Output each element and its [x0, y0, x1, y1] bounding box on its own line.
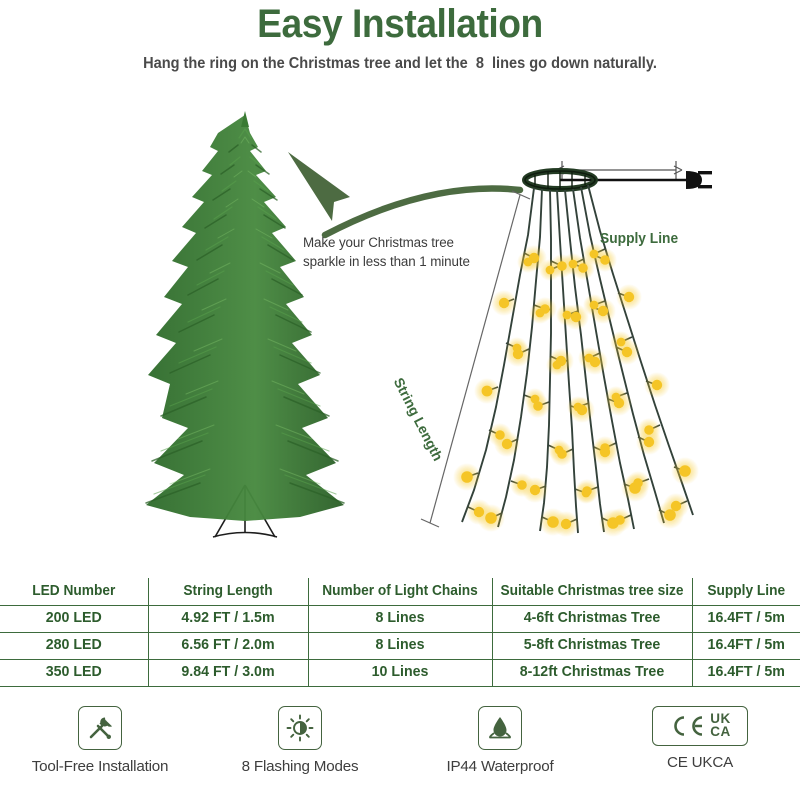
- cell-light-chains: 8 Lines: [312, 632, 489, 659]
- cell-string-length: 9.84 FT / 3.0m: [151, 659, 305, 686]
- feature-label: CE UKCA: [667, 754, 733, 771]
- cell-led-number: 280 LED: [3, 632, 145, 659]
- ukca-mark: UK CA: [710, 713, 731, 738]
- cell-light-chains: 8 Lines: [312, 605, 489, 632]
- table-row: 350 LED 9.84 FT / 3.0m 10 Lines 8-12ft C…: [0, 659, 800, 686]
- cell-tree-size: 4-6ft Christmas Tree: [496, 605, 688, 632]
- table-header-row: LED Number String Length Number of Light…: [0, 578, 800, 605]
- feature-waterproof: IP44 Waterproof: [400, 697, 600, 800]
- feature-label: IP44 Waterproof: [446, 758, 553, 775]
- feature-flashing-modes: 8 Flashing Modes: [200, 697, 400, 800]
- cell-supply-line: 16.4FT / 5m: [694, 605, 798, 632]
- cell-supply-line: 16.4FT / 5m: [694, 659, 798, 686]
- hanging-ring: [525, 171, 595, 189]
- cell-string-length: 4.92 FT / 1.5m: [151, 605, 305, 632]
- feature-tool-free-installation: Tool-Free Installation: [0, 697, 200, 800]
- feature-certifications: UK CA CE UKCA: [600, 697, 800, 800]
- cell-supply-line: 16.4FT / 5m: [694, 632, 798, 659]
- ce-ukca-icon: UK CA: [652, 706, 748, 746]
- installation-callout: Make your Christmas tree sparkle in less…: [303, 233, 470, 271]
- supply-line-label: Supply Line: [600, 231, 678, 247]
- cell-light-chains: 10 Lines: [312, 659, 489, 686]
- plug-icon: [686, 171, 712, 189]
- ukca-ca-text: CA: [710, 726, 731, 739]
- column-header-led-number: LED Number: [3, 578, 145, 605]
- illustration-area: Make your Christmas tree sparkle in less…: [0, 85, 800, 575]
- feature-badges-row: Tool-Free Installation 8 Flashing Modes: [0, 697, 800, 800]
- product-infographic: Easy Installation Hang the ring on the C…: [0, 0, 800, 800]
- callout-line-1: Make your Christmas tree: [303, 233, 470, 252]
- led-light-curtain-illustration: [421, 161, 712, 537]
- page-title: Easy Installation: [28, 2, 772, 47]
- brightness-icon: [278, 706, 322, 750]
- feature-label: Tool-Free Installation: [32, 758, 169, 775]
- cell-led-number: 200 LED: [3, 605, 145, 632]
- tools-icon: [78, 706, 122, 750]
- column-header-light-chains: Number of Light Chains: [312, 578, 489, 605]
- page-subtitle: Hang the ring on the Christmas tree and …: [24, 55, 776, 73]
- column-header-string-length: String Length: [151, 578, 305, 605]
- cell-tree-size: 8-12ft Christmas Tree: [496, 659, 688, 686]
- callout-line-2: sparkle in less than 1 minute: [303, 252, 470, 271]
- specifications-table: LED Number String Length Number of Light…: [0, 578, 800, 687]
- cell-string-length: 6.56 FT / 2.0m: [151, 632, 305, 659]
- column-header-supply-line: Supply Line: [694, 578, 798, 605]
- table-row: 280 LED 6.56 FT / 2.0m 8 Lines 5-8ft Chr…: [0, 632, 800, 659]
- water-drop-icon: [478, 706, 522, 750]
- curved-arrow-icon: [288, 152, 520, 235]
- table-row: 200 LED 4.92 FT / 1.5m 8 Lines 4-6ft Chr…: [0, 605, 800, 632]
- cell-tree-size: 5-8ft Christmas Tree: [496, 632, 688, 659]
- feature-label: 8 Flashing Modes: [242, 758, 359, 775]
- column-header-tree-size: Suitable Christmas tree size: [496, 578, 688, 605]
- cell-led-number: 350 LED: [3, 659, 145, 686]
